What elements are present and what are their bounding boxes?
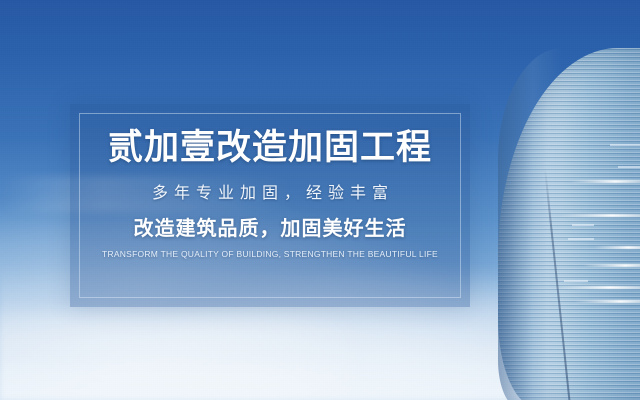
curved-glass-skyscraper bbox=[480, 0, 640, 400]
tower-highlight bbox=[594, 246, 640, 249]
english-tagline-text: TRANSFORM THE QUALITY OF BUILDING, STREN… bbox=[102, 250, 438, 259]
tower-window bbox=[610, 144, 640, 146]
tagline-text: 改造建筑品质，加固美好生活 bbox=[134, 219, 407, 239]
tower-highlight bbox=[582, 264, 640, 267]
tower-window bbox=[568, 238, 594, 240]
tower-window bbox=[564, 280, 588, 282]
banner-image: 贰加壹改造加固工程 多年专业加固，经验丰富 改造建筑品质，加固美好生活 TRAN… bbox=[0, 0, 640, 400]
page-title: 贰加壹改造加固工程 bbox=[108, 130, 432, 165]
tower-highlight bbox=[556, 286, 640, 289]
tower-left-shadow bbox=[498, 48, 562, 400]
tower-window bbox=[618, 166, 640, 168]
tower-highlight bbox=[574, 300, 640, 303]
headline-panel: 贰加壹改造加固工程 多年专业加固，经验丰富 改造建筑品质，加固美好生活 TRAN… bbox=[70, 104, 470, 307]
subtitle-text: 多年专业加固，经验丰富 bbox=[146, 186, 394, 202]
panel-content: 贰加壹改造加固工程 多年专业加固，经验丰富 改造建筑品质，加固美好生活 TRAN… bbox=[70, 104, 470, 307]
tower-highlight bbox=[560, 214, 640, 217]
tower-window bbox=[572, 224, 594, 226]
tower-body bbox=[498, 48, 640, 400]
tower-highlight bbox=[570, 180, 640, 183]
